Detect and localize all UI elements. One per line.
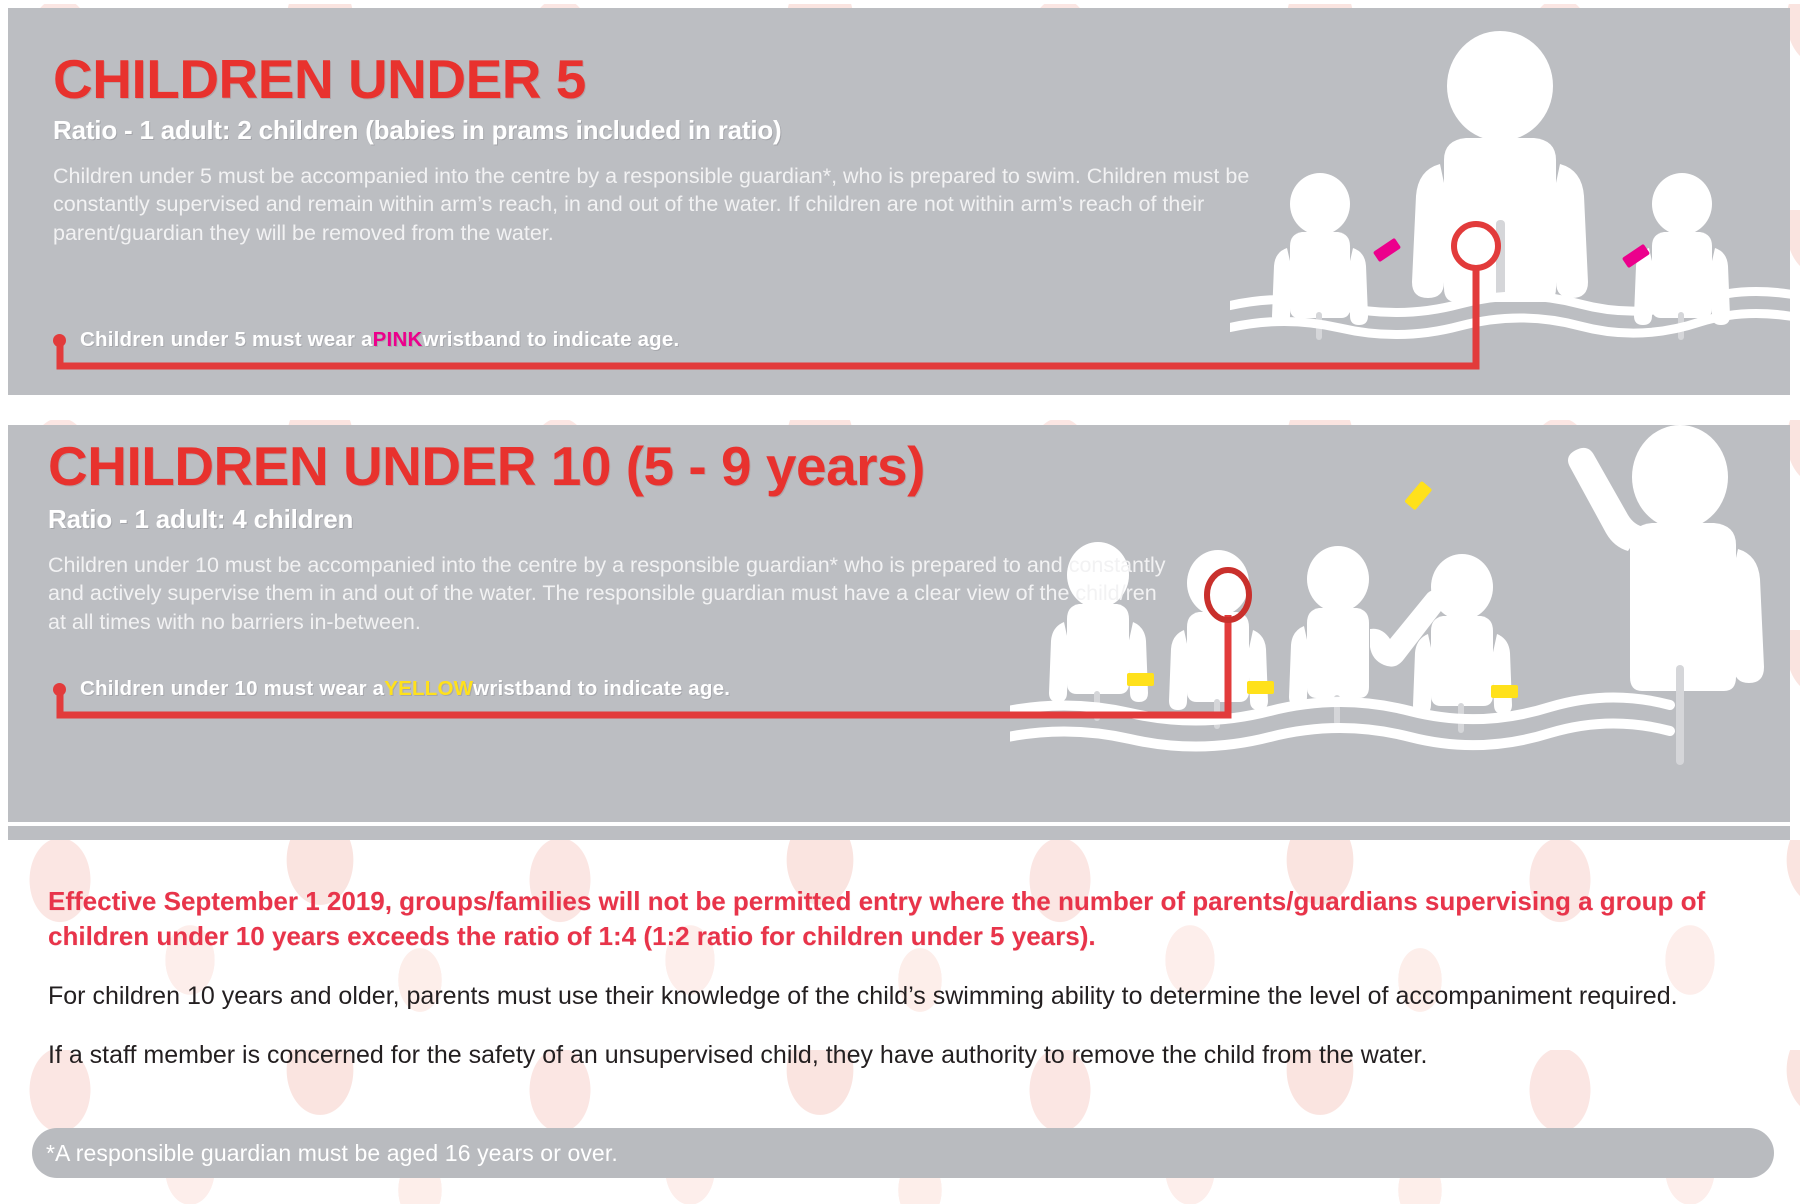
footer-guardian-age-bar: *A responsible guardian must be aged 16 … bbox=[32, 1128, 1774, 1178]
divider-strip-below-panel-2 bbox=[8, 826, 1790, 840]
headline-children-under-10: CHILDREN UNDER 10 (5 - 9 years) bbox=[48, 439, 1168, 494]
callout-yellow-wristband: Children under 10 must wear a YELLOW wri… bbox=[53, 677, 730, 701]
panel-under-5-text-block: CHILDREN UNDER 5 Ratio - 1 adult: 2 chil… bbox=[53, 52, 1303, 247]
callout-pink-wristband: Children under 5 must wear a PINK wristb… bbox=[53, 328, 679, 352]
panel-children-under-5: CHILDREN UNDER 5 Ratio - 1 adult: 2 chil… bbox=[8, 8, 1790, 395]
panel-children-under-10: CHILDREN UNDER 10 (5 - 9 years) Ratio - … bbox=[8, 425, 1790, 822]
illustration-adult-with-two-children-icon bbox=[1230, 8, 1790, 395]
body-paragraph-under-5: Children under 5 must be accompanied int… bbox=[53, 162, 1303, 247]
notes-section: Effective September 1 2019, groups/famil… bbox=[48, 884, 1748, 1072]
effective-date-note: Effective September 1 2019, groups/famil… bbox=[48, 884, 1748, 954]
callout-bullet-dot bbox=[53, 334, 66, 347]
panel-under-10-text-block: CHILDREN UNDER 10 (5 - 9 years) Ratio - … bbox=[48, 439, 1168, 636]
callout-text-after: wristband to indicate age. bbox=[473, 677, 730, 701]
body-paragraph-under-10: Children under 10 must be accompanied in… bbox=[48, 551, 1168, 636]
poster-root: CHILDREN UNDER 5 Ratio - 1 adult: 2 chil… bbox=[0, 0, 1800, 1204]
callout-bullet-dot bbox=[53, 683, 66, 696]
footer-guardian-age-text: *A responsible guardian must be aged 16 … bbox=[46, 1140, 618, 1167]
ratio-line-under-10: Ratio - 1 adult: 4 children bbox=[48, 505, 1168, 535]
note-children-10-and-older: For children 10 years and older, parents… bbox=[48, 980, 1748, 1013]
callout-text-after: wristband to indicate age. bbox=[422, 328, 679, 352]
callout-text-before: Children under 5 must wear a bbox=[80, 328, 373, 352]
callout-highlight-pink: PINK bbox=[373, 328, 423, 352]
headline-children-under-5: CHILDREN UNDER 5 bbox=[53, 52, 1303, 107]
note-staff-authority: If a staff member is concerned for the s… bbox=[48, 1039, 1748, 1072]
top-white-rule bbox=[0, 0, 1800, 4]
ratio-line-under-5: Ratio - 1 adult: 2 children (babies in p… bbox=[53, 116, 1303, 146]
callout-text-before: Children under 10 must wear a bbox=[80, 677, 384, 701]
callout-highlight-yellow: YELLOW bbox=[384, 677, 473, 701]
